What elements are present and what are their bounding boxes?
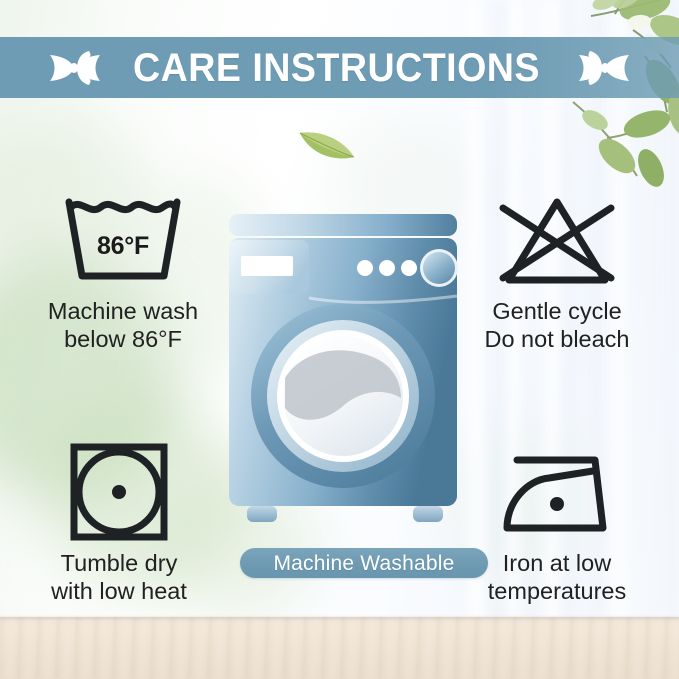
machine-lid xyxy=(229,214,457,236)
leaf-icon xyxy=(296,124,358,164)
caption-line-1: Iron at low xyxy=(488,550,626,578)
care-symbol-caption: Machine wash below 86°F xyxy=(48,298,198,354)
triangle-crossed-out-icon xyxy=(495,188,619,292)
caption-line-2: with low heat xyxy=(51,578,187,606)
caption-line-1: Tumble dry xyxy=(51,550,187,578)
care-symbol-iron-low: Iron at low temperatures xyxy=(452,440,662,606)
caption-line-2: below 86°F xyxy=(48,326,198,354)
control-button xyxy=(379,260,395,276)
page-title: CARE INSTRUCTIONS xyxy=(133,48,540,88)
drawer-slot xyxy=(241,256,293,276)
wash-tub-icon: 86°F xyxy=(60,188,186,292)
wash-temperature-value: 86°F xyxy=(60,232,186,261)
tumble-dry-low-icon xyxy=(67,440,171,544)
badge-label: Machine Washable xyxy=(273,553,454,574)
wooden-table-surface xyxy=(0,617,679,679)
machine-foot xyxy=(413,506,443,522)
symbol-art xyxy=(495,440,619,544)
control-dial xyxy=(423,252,455,284)
symbol-art xyxy=(67,440,171,544)
care-symbol-do-not-bleach: Gentle cycle Do not bleach xyxy=(452,188,662,354)
control-button xyxy=(357,260,373,276)
fleur-de-lis-icon xyxy=(46,47,104,89)
table-grain-texture xyxy=(0,617,679,679)
care-symbol-caption: Iron at low temperatures xyxy=(488,550,626,606)
iron-low-icon xyxy=(495,440,619,544)
control-button xyxy=(401,260,417,276)
table-edge-highlight xyxy=(0,617,679,620)
care-instructions-infographic: CARE INSTRUCTIONS xyxy=(0,0,679,679)
machine-washable-badge: Machine Washable xyxy=(240,548,488,578)
symbol-art: 86°F xyxy=(60,188,186,292)
symbol-art xyxy=(495,188,619,292)
caption-line-2: Do not bleach xyxy=(484,326,629,354)
fleur-de-lis-icon xyxy=(575,47,633,89)
machine-foot xyxy=(247,506,277,522)
caption-line-1: Machine wash xyxy=(48,298,198,326)
washing-machine-illustration xyxy=(223,212,463,532)
care-symbol-tumble-dry: Tumble dry with low heat xyxy=(14,440,224,606)
caption-line-2: temperatures xyxy=(488,578,626,606)
care-symbol-machine-wash: 86°F Machine wash below 86°F xyxy=(18,188,228,354)
caption-line-1: Gentle cycle xyxy=(484,298,629,326)
care-symbol-caption: Tumble dry with low heat xyxy=(51,550,187,606)
header-banner: CARE INSTRUCTIONS xyxy=(0,37,679,98)
care-symbol-caption: Gentle cycle Do not bleach xyxy=(484,298,629,354)
